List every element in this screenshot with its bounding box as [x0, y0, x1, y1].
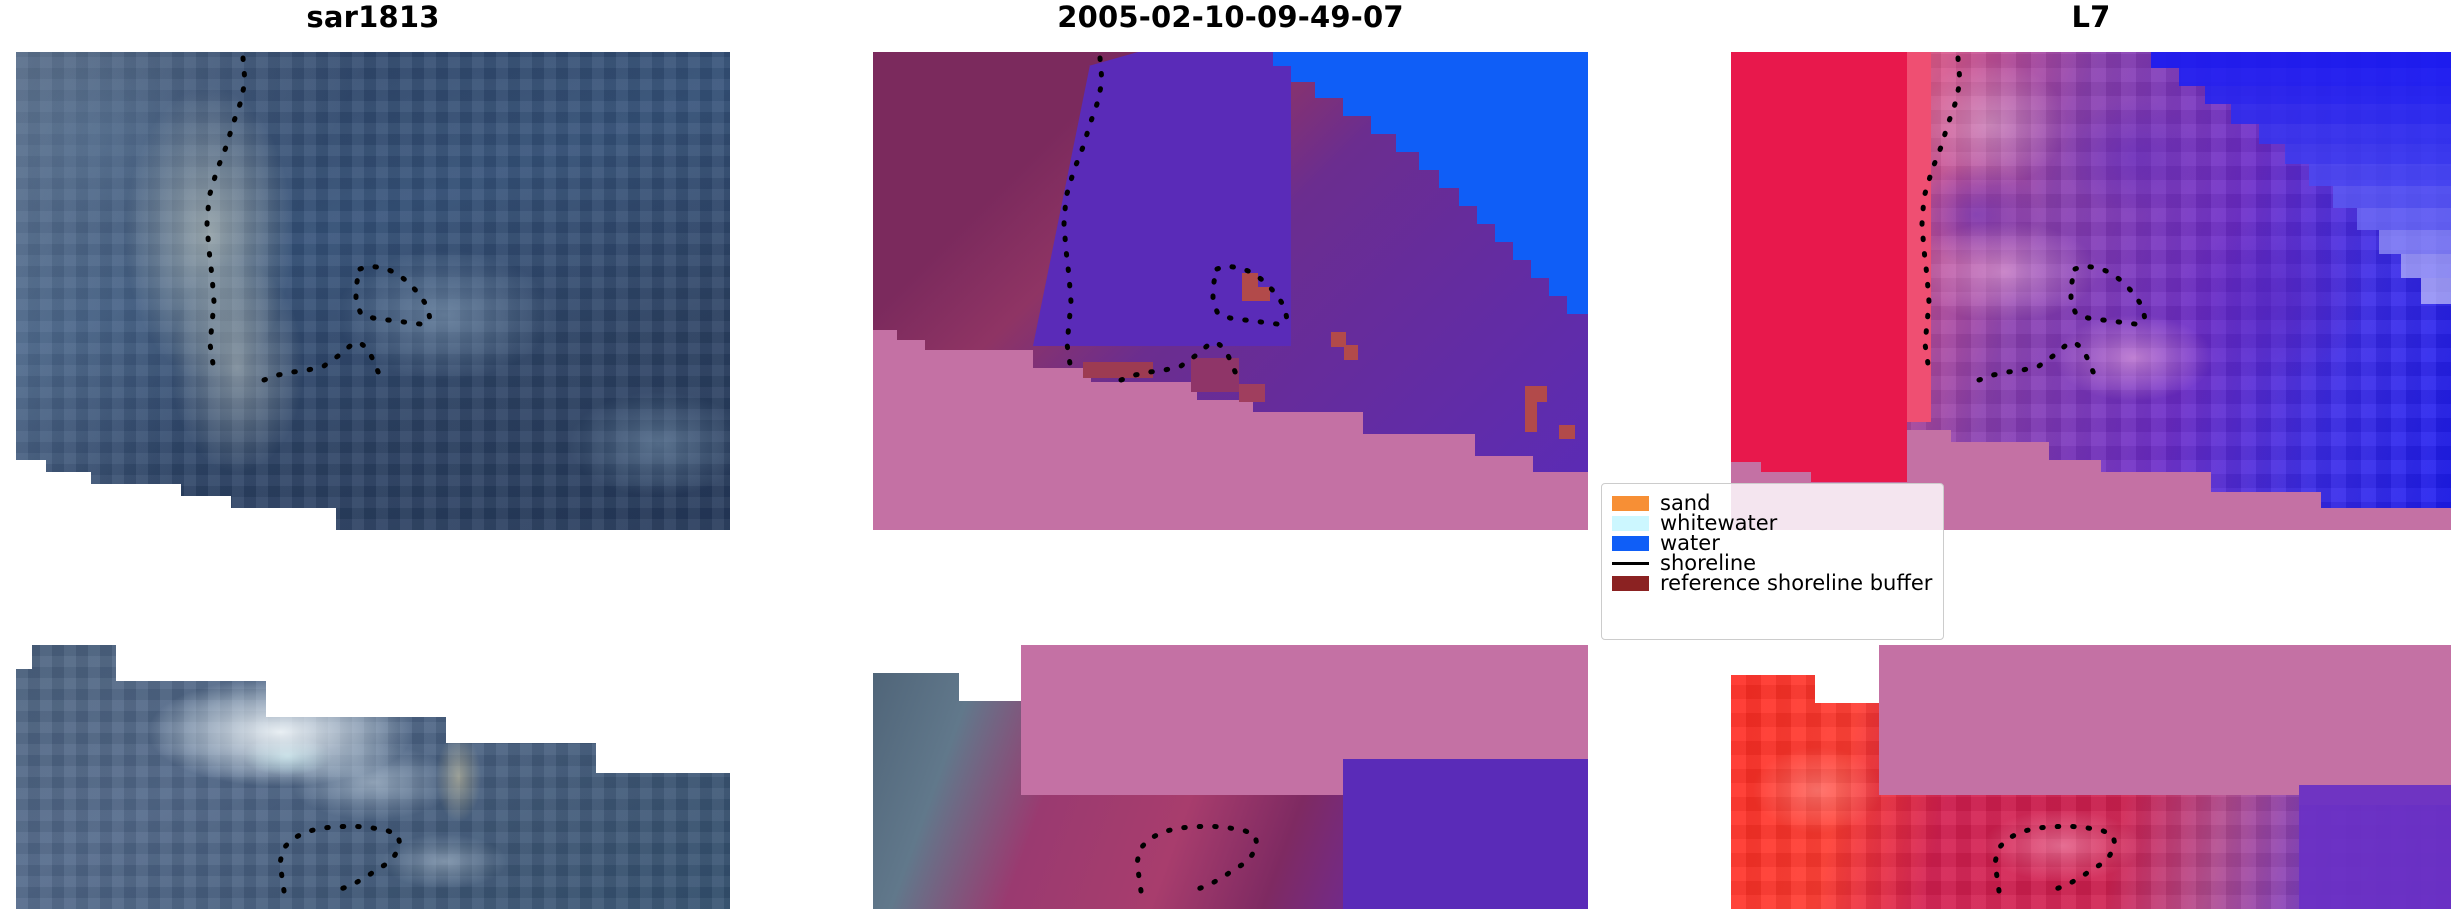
shoreline-overlay-classified: [873, 52, 1588, 530]
legend-label-reference-shoreline-buffer: reference shoreline buffer: [1660, 573, 1932, 594]
panel-classified: 2005-02-10-09-49-07: [873, 0, 1588, 909]
shoreline-line-swatch: [1612, 562, 1649, 565]
panel-classified-title: 2005-02-10-09-49-07: [873, 0, 1588, 34]
panel-rgb-title: sar1813: [16, 0, 730, 34]
shoreline-overlay-classified-bottom: [873, 645, 1588, 909]
panel-classified-axes-bottom: [873, 645, 1588, 909]
whitewater-color-swatch: [1612, 516, 1649, 531]
panel-rgb: sar1813: [16, 0, 730, 909]
shoreline-overlay-index: [1731, 52, 2451, 530]
shoreline-overlay-index-bottom: [1731, 645, 2451, 909]
panel-classified-axes-top: [873, 52, 1588, 530]
shoreline-overlay-rgb-bottom: [16, 645, 730, 909]
panel-rgb-axes-bottom: [16, 645, 730, 909]
figure-canvas: sar1813: [0, 0, 2460, 909]
legend-box: sand whitewater water shoreline referenc…: [1601, 483, 1944, 640]
water-color-swatch: [1612, 536, 1649, 551]
panel-index-axes-top: [1731, 52, 2451, 530]
legend-item-reference-shoreline-buffer: reference shoreline buffer: [1612, 574, 1931, 593]
panel-index-axes-bottom: [1731, 645, 2451, 909]
sand-color-swatch: [1612, 496, 1649, 511]
shoreline-overlay-rgb: [16, 52, 730, 530]
panel-index: L7: [1731, 0, 2451, 909]
panel-rgb-axes-top: [16, 52, 730, 530]
panel-index-title: L7: [1731, 0, 2451, 34]
reference-shoreline-buffer-color-swatch: [1612, 576, 1649, 591]
